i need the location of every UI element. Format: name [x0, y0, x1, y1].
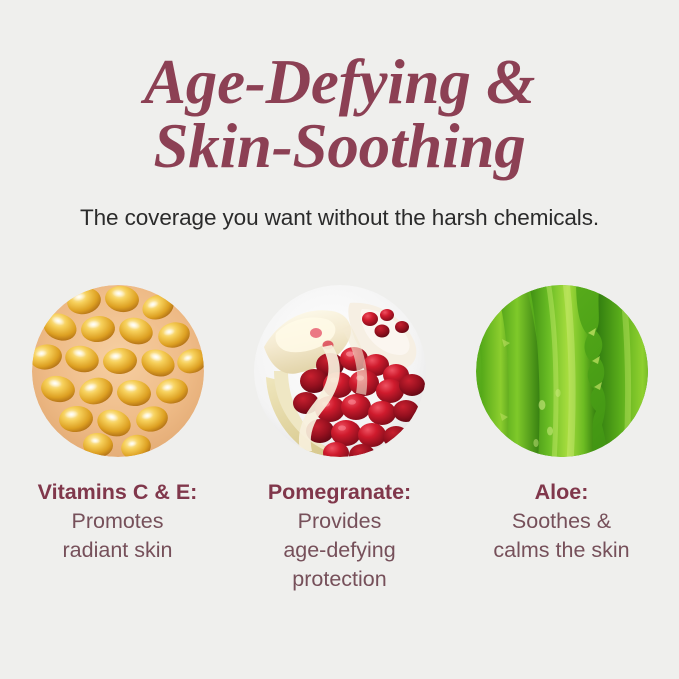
ingredient-caption-vitamins: Vitamins C & E: Promotes radiant skin: [10, 478, 225, 565]
ingredient-title: Aloe:: [454, 478, 669, 507]
vitamin-capsules-photo: [32, 285, 204, 457]
headline-line-1: Age-Defying &: [0, 50, 679, 114]
ingredient-desc-line: calms the skin: [454, 536, 669, 565]
headline-line-2: Skin-Soothing: [0, 114, 679, 178]
ingredient-desc-line: protection: [232, 565, 447, 594]
ingredient-desc-line: age-defying: [232, 536, 447, 565]
ingredient-column-pomegranate: Pomegranate: Provides age-defying protec…: [229, 285, 451, 594]
ingredient-title: Vitamins C & E:: [10, 478, 225, 507]
ingredient-columns: Vitamins C & E: Promotes radiant skin: [0, 285, 679, 594]
ingredient-desc-line: Promotes: [10, 507, 225, 536]
ingredient-desc-line: Soothes &: [454, 507, 669, 536]
subtitle: The coverage you want without the harsh …: [0, 203, 679, 233]
pomegranate-photo: [254, 285, 426, 457]
ingredient-desc-line: Provides: [232, 507, 447, 536]
ingredient-desc-line: radiant skin: [10, 536, 225, 565]
ingredient-caption-aloe: Aloe: Soothes & calms the skin: [454, 478, 669, 565]
ingredient-column-vitamins: Vitamins C & E: Promotes radiant skin: [7, 285, 229, 565]
aloe-leaves-photo: [476, 285, 648, 457]
ingredient-column-aloe: Aloe: Soothes & calms the skin: [451, 285, 673, 565]
ingredient-title: Pomegranate:: [232, 478, 447, 507]
ingredient-benefits-poster: Age-Defying & Skin-Soothing The coverage…: [0, 0, 679, 679]
page-title: Age-Defying & Skin-Soothing: [0, 50, 679, 178]
ingredient-caption-pomegranate: Pomegranate: Provides age-defying protec…: [232, 478, 447, 594]
